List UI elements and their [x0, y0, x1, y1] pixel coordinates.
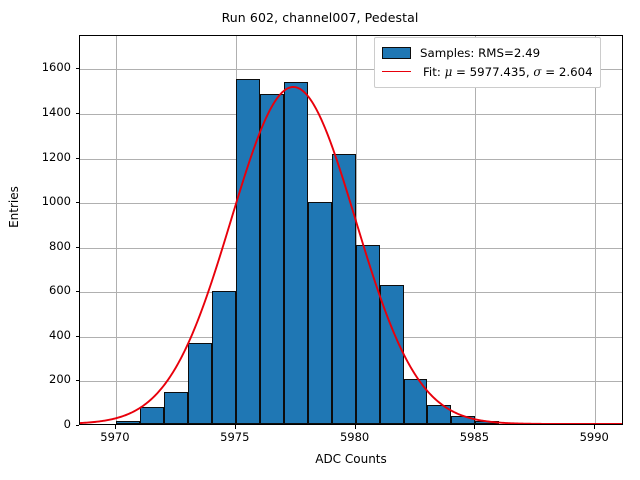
- y-axis-tick: [76, 68, 80, 69]
- legend-item-fit: Fit: μ = 5977.435, σ = 2.604: [382, 62, 593, 81]
- legend-label-fit: Fit: μ = 5977.435, σ = 2.604: [420, 65, 593, 79]
- y-axis-tick-label: 800: [49, 239, 71, 253]
- page-title: Run 602, channel007, Pedestal: [0, 10, 640, 25]
- x-axis-tick: [594, 425, 595, 429]
- y-axis-tick-label: 200: [49, 372, 71, 386]
- legend: Samples: RMS=2.49 Fit: μ = 5977.435, σ =…: [374, 37, 601, 88]
- legend-line-icon: [382, 71, 411, 72]
- legend-fit-prefix: Fit:: [423, 65, 445, 79]
- y-axis-tick: [76, 425, 80, 426]
- y-axis-tick-label: 1400: [42, 105, 71, 119]
- plot-area: [79, 35, 623, 425]
- y-axis-tick-label: 400: [49, 328, 71, 342]
- legend-fit-sigma-value: = 2.604: [541, 65, 592, 79]
- y-axis-tick-label: 1600: [42, 60, 71, 74]
- x-axis-tick: [235, 425, 236, 429]
- legend-item-samples: Samples: RMS=2.49: [382, 43, 593, 62]
- y-axis-tick-label: 1000: [42, 194, 71, 208]
- y-axis-tick-label: 0: [64, 417, 71, 431]
- figure-canvas: Run 602, channel007, Pedestal 0200400600…: [0, 0, 640, 480]
- legend-patch-icon: [382, 47, 411, 59]
- y-axis-tick: [76, 158, 80, 159]
- x-axis-tick: [474, 425, 475, 429]
- x-axis-tick-label: 5980: [325, 430, 385, 444]
- x-axis-tick-label: 5975: [205, 430, 265, 444]
- y-axis-tick: [76, 247, 80, 248]
- y-axis-tick: [76, 202, 80, 203]
- x-axis-tick: [355, 425, 356, 429]
- x-axis-tick: [115, 425, 116, 429]
- y-axis-tick-label: 1200: [42, 150, 71, 164]
- y-axis-tick: [76, 336, 80, 337]
- y-axis-tick: [76, 113, 80, 114]
- gaussian-fit-curve: [80, 36, 622, 424]
- y-axis-label: Entries: [7, 107, 21, 307]
- x-axis-label: ADC Counts: [79, 452, 623, 466]
- x-axis-tick-label: 5985: [444, 430, 504, 444]
- y-axis-tick: [76, 380, 80, 381]
- x-axis-tick-label: 5970: [85, 430, 145, 444]
- y-axis-tick: [76, 291, 80, 292]
- y-axis-tick-label: 600: [49, 283, 71, 297]
- x-axis-tick-label: 5990: [564, 430, 624, 444]
- legend-label-samples: Samples: RMS=2.49: [420, 46, 540, 60]
- legend-fit-mu-value: = 5977.435,: [452, 65, 533, 79]
